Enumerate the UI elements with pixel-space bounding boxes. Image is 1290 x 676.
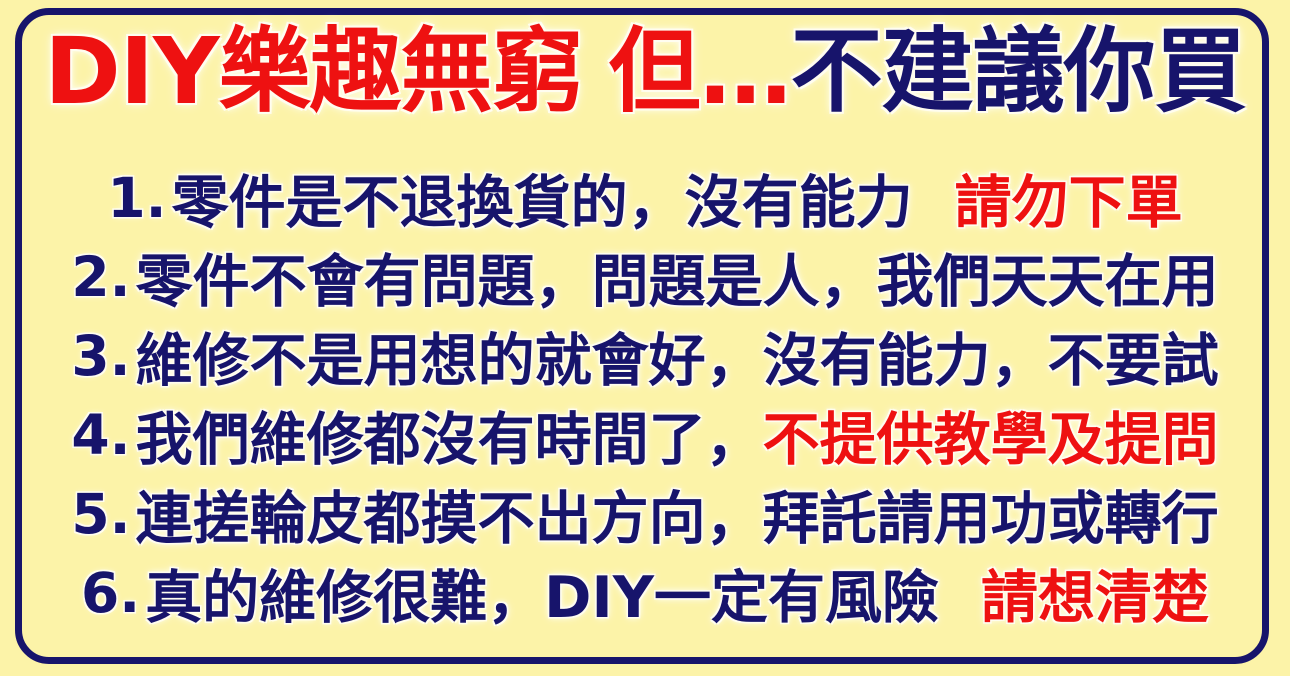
list-item-emphasis: 請勿下單 (955, 157, 1183, 239)
list-item-number: 4. (71, 403, 130, 467)
list-item-number: 6. (81, 561, 140, 625)
list-item: 4.我們維修都沒有時間了，不提供教學及提問 (0, 395, 1290, 474)
list-item-number: 5. (71, 482, 130, 546)
poster-title: DIY樂趣無窮但…不建議你買 (0, 12, 1290, 132)
list-item: 1.零件是不退換貨的，沒有能力請勿下單 (0, 158, 1290, 237)
list-item-number: 2. (71, 245, 130, 309)
title-part-not-recommended: 不建議你買 (791, 18, 1246, 125)
list-item-text: 真的維修很難，DIY一定有風險 (145, 552, 939, 634)
title-part-diy-fun: DIY樂趣無窮 (44, 18, 582, 125)
list-item: 6.真的維修很難，DIY一定有風險請想清楚 (0, 553, 1290, 632)
list-item-text: 維修不是用想的就會好，沒有能力，不要試 (136, 315, 1219, 397)
list-item: 3.維修不是用想的就會好，沒有能力，不要試 (0, 316, 1290, 395)
list-item-text: 零件不會有問題，問題是人，我們天天在用 (136, 236, 1219, 318)
list-item-number: 1. (107, 166, 166, 230)
list-item-number: 3. (71, 324, 130, 388)
warning-list: 1.零件是不退換貨的，沒有能力請勿下單 2.零件不會有問題，問題是人，我們天天在… (0, 158, 1290, 632)
warning-poster: DIY樂趣無窮但…不建議你買 1.零件是不退換貨的，沒有能力請勿下單 2.零件不… (0, 0, 1290, 676)
title-part-but: 但… (609, 18, 791, 125)
list-item: 2.零件不會有問題，問題是人，我們天天在用 (0, 237, 1290, 316)
poster-content: DIY樂趣無窮但…不建議你買 1.零件是不退換貨的，沒有能力請勿下單 2.零件不… (0, 0, 1290, 676)
list-item: 5.連搓輪皮都摸不出方向，拜託請用功或轉行 (0, 474, 1290, 553)
list-item-text: 連搓輪皮都摸不出方向，拜託請用功或轉行 (136, 473, 1219, 555)
list-item-text: 零件是不退換貨的，沒有能力 (172, 157, 913, 239)
list-item-emphasis: 請想清楚 (981, 552, 1209, 634)
list-item-emphasis: 不提供教學及提問 (763, 394, 1219, 476)
list-item-text: 我們維修都沒有時間了， (136, 394, 763, 476)
